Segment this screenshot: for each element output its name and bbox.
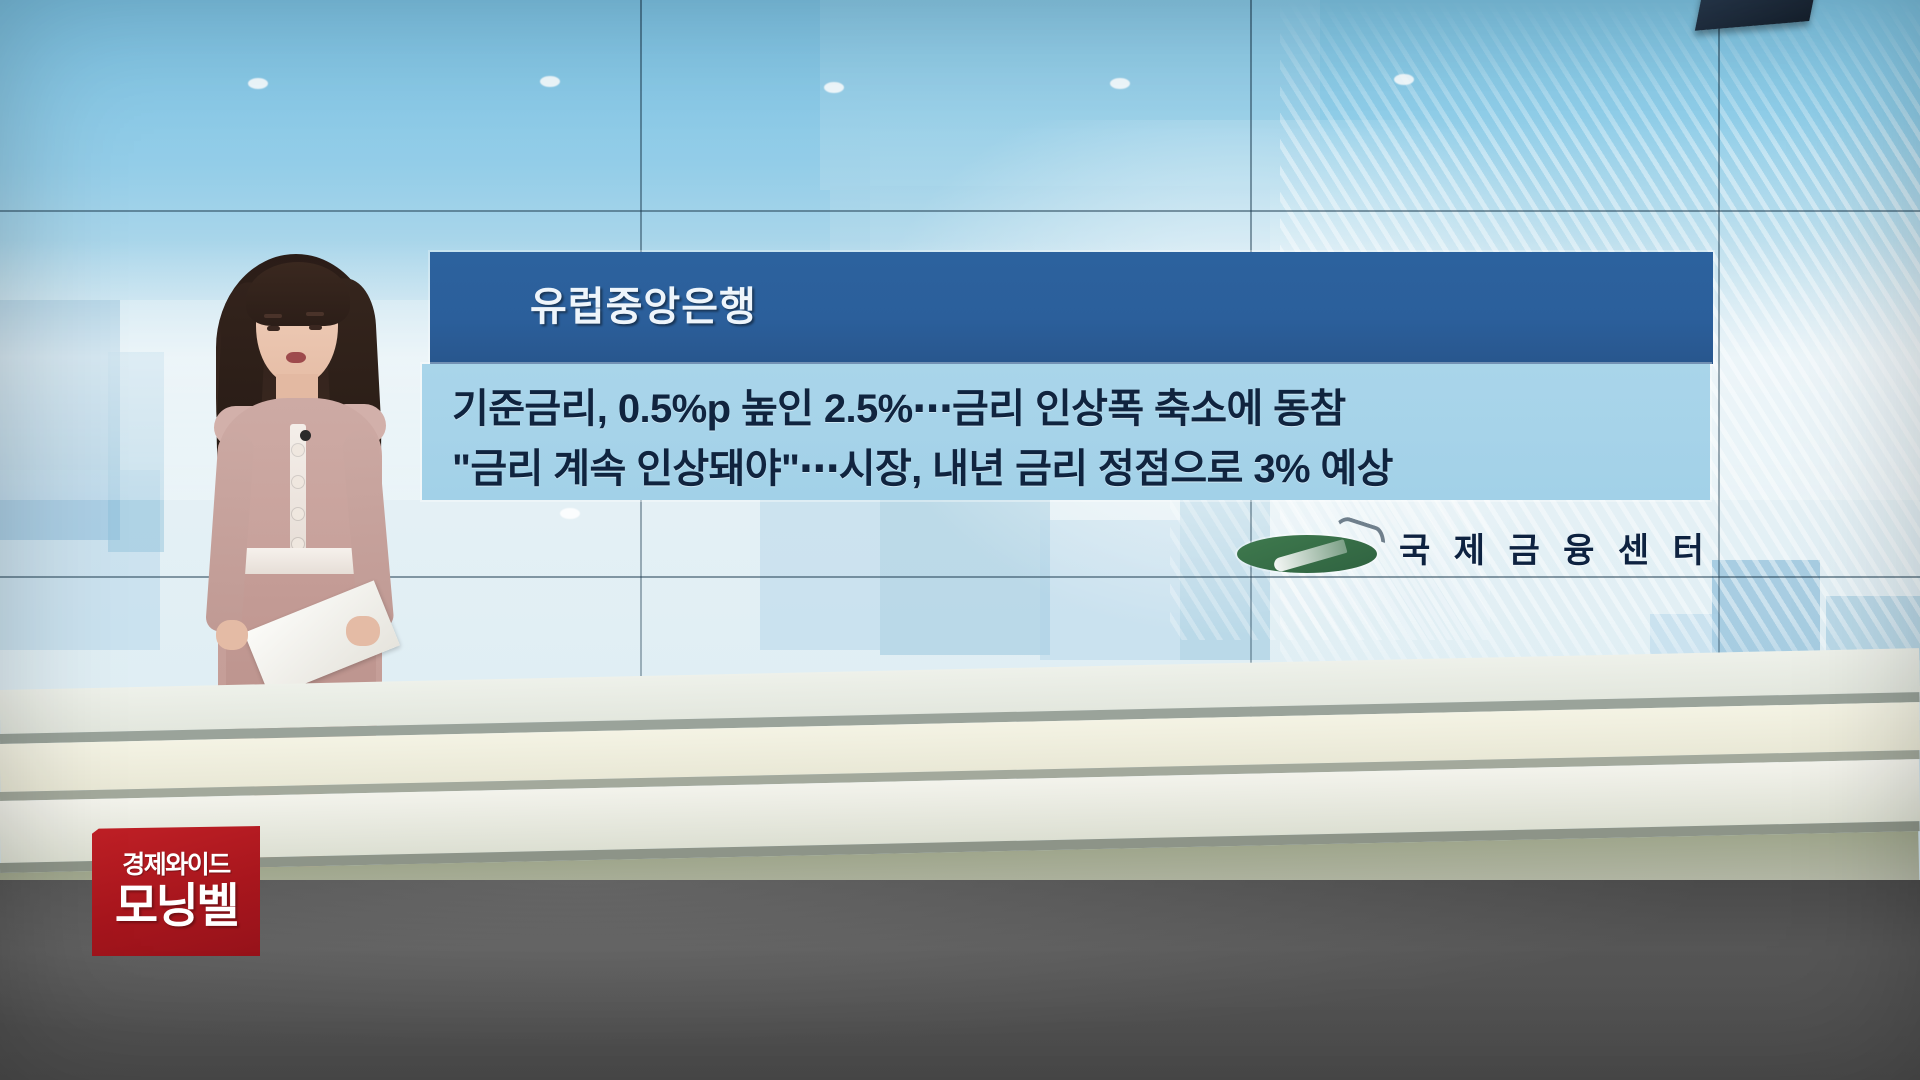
program-logo-bug: 경제와이드 모닝벨 bbox=[92, 826, 260, 956]
program-name-label: 모닝벨 bbox=[115, 882, 237, 929]
wall-panel-seam bbox=[1718, 0, 1720, 720]
dress-button bbox=[292, 508, 304, 520]
dress-button bbox=[292, 476, 304, 488]
ceiling-light bbox=[1394, 74, 1414, 85]
graphic-header-bar: 유럽중앙은행 bbox=[430, 252, 1713, 364]
anchor-mouth bbox=[286, 352, 306, 363]
broadcast-frame: 유럽중앙은행 기준금리, 0.5%p 높인 2.5%⋯금리 인상폭 축소에 동참… bbox=[0, 0, 1920, 1080]
news-graphic-card: 유럽중앙은행 bbox=[430, 252, 1710, 372]
wall-panel-seam bbox=[0, 210, 1920, 212]
lapel-microphone-icon bbox=[300, 430, 311, 441]
studio-floor-sheen bbox=[0, 880, 1920, 1080]
program-brand-label: 경제와이드 bbox=[122, 853, 230, 878]
ceiling-light bbox=[248, 78, 268, 89]
ceiling-light bbox=[824, 82, 844, 93]
graphic-title: 유럽중앙은행 bbox=[530, 274, 757, 332]
ceiling-light bbox=[1110, 78, 1130, 89]
graphic-body-panel: 기준금리, 0.5%p 높인 2.5%⋯금리 인상폭 축소에 동참 "금리 계속… bbox=[422, 364, 1710, 500]
anchor-eyebrow-left bbox=[264, 314, 282, 318]
headline-line-1: 기준금리, 0.5%p 높인 2.5%⋯금리 인상폭 축소에 동참 bbox=[452, 376, 1682, 434]
anchor-eyebrow-right bbox=[306, 312, 324, 316]
source-name: 국 제 금 융 센 터 bbox=[1399, 523, 1711, 572]
ceiling-light bbox=[540, 76, 560, 87]
dress-button bbox=[292, 444, 304, 456]
ceiling-light bbox=[560, 508, 580, 519]
anchor-hand-left bbox=[216, 620, 248, 650]
anchor-hand-right bbox=[346, 616, 380, 646]
anchor-eye-left bbox=[267, 326, 280, 331]
headline-line-2: "금리 계속 인상돼야"⋯시장, 내년 금리 정점으로 3% 예상 bbox=[452, 436, 1682, 494]
kcif-leaf-logo-icon bbox=[1235, 519, 1385, 575]
anchor-eye-right bbox=[309, 325, 322, 330]
graphic-source-credit: 국 제 금 융 센 터 bbox=[1235, 512, 1710, 582]
